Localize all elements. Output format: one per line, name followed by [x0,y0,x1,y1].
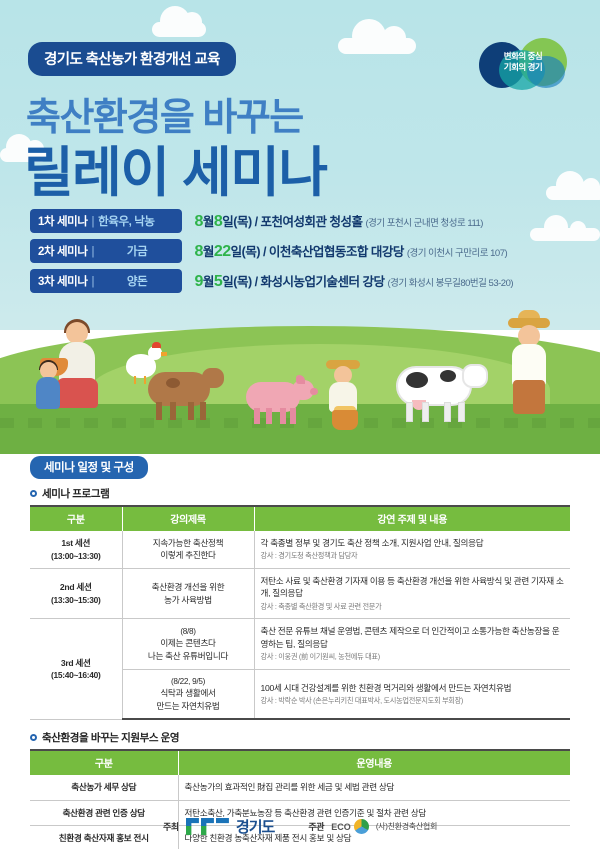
divider: | [88,216,99,228]
schedule-venue: / 포천여성회관 청성홀 [255,215,363,229]
cow-leg-shape [156,402,162,420]
cell-lecture-title: 지속가능한 축산정책 이렇게 추진한다 [122,531,254,568]
pig-snout-shape [310,388,318,395]
title-line1: 축산환경 개선을 위한 [152,582,225,592]
logo-text-line2: 기회의 경기 [477,62,569,73]
section-title-badge: 세미나 일정 및 구성 [30,456,148,479]
logo-text-line1: 변화의 중심 [477,51,569,62]
body-shape [36,377,60,409]
cow-body-shape [148,372,210,406]
schedule-day: 22 [214,243,231,260]
head-shape [66,322,88,344]
cow-leg-shape [458,402,465,422]
cell-content: 100세 시대 건강설계를 위한 친환경 먹거리와 생활에서 만드는 자연치유법… [254,669,570,719]
schedule-kind: 가금 [98,243,176,259]
eco-logo-icon: ECO [331,819,369,834]
host-group: 주최 경기도 [163,816,274,837]
hen-comb-shape [152,342,161,348]
content-text: 축산 전문 유튜브 채널 운영법, 콘텐츠 제작으로 더 인간적이고 소통가능한… [261,626,560,648]
schedule-label: 3차 세미나 [38,276,88,288]
cow-head-shape [202,368,224,388]
cow-leg-shape [406,402,413,422]
pig-icon [246,374,322,426]
hen-beak-shape [161,352,167,356]
organizer-group: 주관 ECO (사)친환경축산협회 [308,819,437,834]
cow-leg-shape [188,402,194,420]
session-time: (15:40~16:40) [36,669,116,681]
cloud-icon [546,186,600,200]
schedule-row: 2차 세미나|가금 8월22일(목) / 이천축산업협동조합 대강당 (경기 이… [30,239,575,269]
title-line2: 만드는 자연치유법 [157,701,220,711]
cow-spot-shape [166,378,180,388]
cow-leg-shape [444,402,451,422]
lecturer-text: 강사 : 경기도청 축산정책과 담당자 [261,551,565,561]
schedule-label: 2차 세미나 [38,246,88,258]
title-line2: 이렇게 추진한다 [160,550,215,560]
pig-leg-shape [290,408,296,424]
cell-session: 1st 세션 (13:00~13:30) [30,531,122,568]
table-row: 2nd 세션 (13:30~15:30) 축산환경 개선을 위한 농가 사육방법… [30,568,570,618]
farmer-feeding-figure [326,358,368,432]
divider: | [88,276,99,288]
schedule-month-unit: 월 [203,275,214,289]
content-area: 세미나 일정 및 구성 세미나 프로그램 구분 강의제목 강연 주제 및 내용 … [0,454,600,849]
gg-brand-logo: 변화의 중심 기회의 경기 [477,36,569,94]
title-line1: 이제는 콘텐츠다 [160,638,215,648]
schedule-badge-1: 1차 세미나|한육우, 낙농 [30,209,182,233]
schedule-month: 8 [194,243,202,260]
lecturer-text: 강사 : 이웅권 (前 이기원씨, 농천에듀 대표) [261,652,565,662]
schedule-month: 9 [194,273,202,290]
schedule-address: (경기 이천시 구만리로 107) [407,248,507,259]
col-header-operation: 운영내용 [178,750,570,775]
schedule-address: (경기 포천시 군내면 청성로 111) [366,218,483,229]
cell-lecture-title: (8/8) 이제는 콘텐츠다 나는 축산 유튜버입니다 [122,619,254,669]
divider: | [88,246,99,258]
schedule-address: (경기 화성시 봉무길80번길 53-20) [388,278,514,289]
lecturer-text: 강사 : 박락순 박사 (손은누리키친 대표박사, 도시농업전문지도회 부회장) [261,696,565,706]
pig-leg-shape [254,408,260,424]
organizer-name: (사)친환경축산협회 [376,821,437,832]
green-divider-strip [0,440,600,454]
content-text: 각 축종별 정부 및 경기도 축산 정책 소개, 지원사업 안내, 질의응답 [261,538,484,548]
cloud-icon [338,38,416,54]
schedule-month-unit: 월 [203,215,214,229]
hen-head-shape [148,346,162,360]
child-figure [34,362,64,414]
pig-ear-shape [296,375,305,384]
lecturer-text: 강사 : 축종별 축산환경 및 사료 관련 전문가 [261,602,565,612]
date-tag: (8/8) [129,626,248,638]
holstein-cow-icon [396,358,496,428]
col-header-lecture-title: 강의제목 [122,506,254,531]
cow-leg-shape [170,402,176,420]
farmer-man-figure [506,316,556,416]
logo-text: 변화의 중심 기회의 경기 [477,51,569,73]
title-line2: 농가 사육방법 [164,595,212,605]
cell-booth-category: 축산농가 세무 상담 [30,775,178,800]
gyeonggi-wordmark-icon [186,818,229,835]
session-name: 3rd 세션 [61,658,91,668]
schedule-venue: / 화성시농업기술센터 강당 [255,275,385,289]
session-name: 2nd 세션 [60,582,92,592]
kicker-badge: 경기도 축산농가 환경개선 교육 [28,42,236,76]
program-table: 구분 강의제목 강연 주제 및 내용 1st 세션 (13:00~13:30) … [30,505,570,720]
schedule-label: 1차 세미나 [38,216,88,228]
title-line2: 나는 축산 유튜버입니다 [148,651,228,661]
brown-cow-icon [148,364,230,422]
title-line1: 지속가능한 축산정책 [153,538,224,548]
bullet-dot-icon [30,490,37,497]
organizer-label: 주관 [308,820,324,833]
eco-text: ECO [331,822,351,832]
schedule-kind: 한육우, 낙농 [98,216,155,228]
subhead-booth: 축산환경을 바꾸는 지원부스 운영 [30,730,600,745]
eco-swirl-shape [354,819,369,834]
cow-leg-shape [422,402,429,422]
poster-root: 경기도 축산농가 환경개선 교육 변화의 중심 기회의 경기 축산환경을 바꾸는… [0,0,600,849]
host-name: 경기도 [236,816,274,837]
schedule-day-unit: 일(목) [231,245,260,259]
host-label: 주최 [163,820,179,833]
content-text: 저탄소 사료 및 축산환경 기자재 이용 등 축산환경 개선을 위한 사육방식 … [261,576,564,598]
cow-leg-shape [200,402,206,420]
schedule-badge-3: 3차 세미나|양돈 [30,269,182,293]
date-tag: (8/22, 9/5) [129,676,248,688]
schedule-row: 1차 세미나|한육우, 낙농 8월8일(목) / 포천여성회관 청성홀 (경기 … [30,209,575,239]
schedule-kind: 양돈 [98,273,176,289]
subhead-program-label: 세미나 프로그램 [42,488,109,500]
schedule-info-1: 8월8일(목) / 포천여성회관 청성홀 (경기 포천시 군내면 청성로 111… [194,211,483,231]
schedule-month: 8 [194,213,202,230]
cow-body-shape [396,366,472,406]
cell-content: 저탄소 사료 및 축산환경 기자재 이용 등 축산환경 개선을 위한 사육방식 … [254,568,570,618]
hen-leg-shape [144,376,146,384]
page-title-line2: 릴레이 세미나 [24,128,327,207]
bullet-dot-icon [30,734,37,741]
schedule-day-unit: 일(목) [222,215,251,229]
schedule-venue: / 이천축산업협동조합 대강당 [263,245,404,259]
col-header-category: 구분 [30,506,122,531]
schedule-badge-2: 2차 세미나|가금 [30,239,182,263]
gg-bar-shape [201,818,214,835]
gg-bar-shape [216,818,229,835]
session-time: (13:30~15:30) [36,594,116,606]
pants-shape [513,380,545,414]
col-header-category: 구분 [30,750,178,775]
cell-session: 2nd 세션 (13:30~15:30) [30,568,122,618]
session-time: (13:00~13:30) [36,550,116,562]
cell-booth-detail: 축산농가의 효과적인 財집 관리를 위한 세금 및 세법 관련 상담 [178,775,570,800]
cow-spot-shape [406,372,428,388]
subhead-booth-label: 축산환경을 바꾸는 지원부스 운영 [42,732,179,744]
table-row: 3rd 세션 (15:40~16:40) (8/8) 이제는 콘텐츠다 나는 축… [30,619,570,669]
table-row: 1st 세션 (13:00~13:30) 지속가능한 축산정책 이렇게 추진한다… [30,531,570,568]
title-line1: 식탁과 생활에서 [160,688,215,698]
session-name: 1st 세션 [61,538,90,548]
cell-lecture-title: 축산환경 개선을 위한 농가 사육방법 [122,568,254,618]
schedule-month-unit: 월 [203,245,214,259]
footer-sponsors: 주최 경기도 주관 ECO (사)친환경축산협회 [0,816,600,837]
content-text: 100세 시대 건강설계를 위한 친환경 먹거리와 생활에서 만드는 자연치유법 [261,683,512,693]
cell-content: 각 축종별 정부 및 경기도 축산 정책 소개, 지원사업 안내, 질의응답 강… [254,531,570,568]
col-header-topic-content: 강연 주제 및 내용 [254,506,570,531]
schedule-day-unit: 일(목) [222,275,251,289]
schedule-info-2: 8월22일(목) / 이천축산업협동조합 대강당 (경기 이천시 구만리로 10… [194,241,507,261]
schedule-row: 3차 세미나|양돈 9월5일(목) / 화성시농업기술센터 강당 (경기 화성시… [30,269,575,299]
hen-leg-shape [134,376,136,384]
schedule-info-3: 9월5일(목) / 화성시농업기술센터 강당 (경기 화성시 봉무길80번길 5… [194,271,513,291]
cell-content: 축산 전문 유튜브 채널 운영법, 콘텐츠 제작으로 더 인간적이고 소통가능한… [254,619,570,669]
pig-leg-shape [280,408,286,424]
schedule-list: 1차 세미나|한육우, 낙농 8월8일(목) / 포천여성회관 청성홀 (경기 … [30,209,575,299]
cell-session: 3rd 세션 (15:40~16:40) [30,619,122,720]
cow-spot-shape [440,370,456,382]
farm-illustration [0,300,600,450]
table-header-row: 구분 운영내용 [30,750,570,775]
gg-bar-shape [186,818,199,835]
cell-lecture-title: (8/22, 9/5) 식탁과 생활에서 만드는 자연치유법 [122,669,254,719]
cow-head-shape [462,364,488,388]
feed-bucket-icon [332,410,358,430]
cloud-icon [152,22,206,37]
pig-leg-shape [266,408,272,424]
table-row: 축산농가 세무 상담 축산농가의 효과적인 財집 관리를 위한 세금 및 세법 … [30,775,570,800]
subhead-program: 세미나 프로그램 [30,486,600,501]
table-header-row: 구분 강의제목 강연 주제 및 내용 [30,506,570,531]
